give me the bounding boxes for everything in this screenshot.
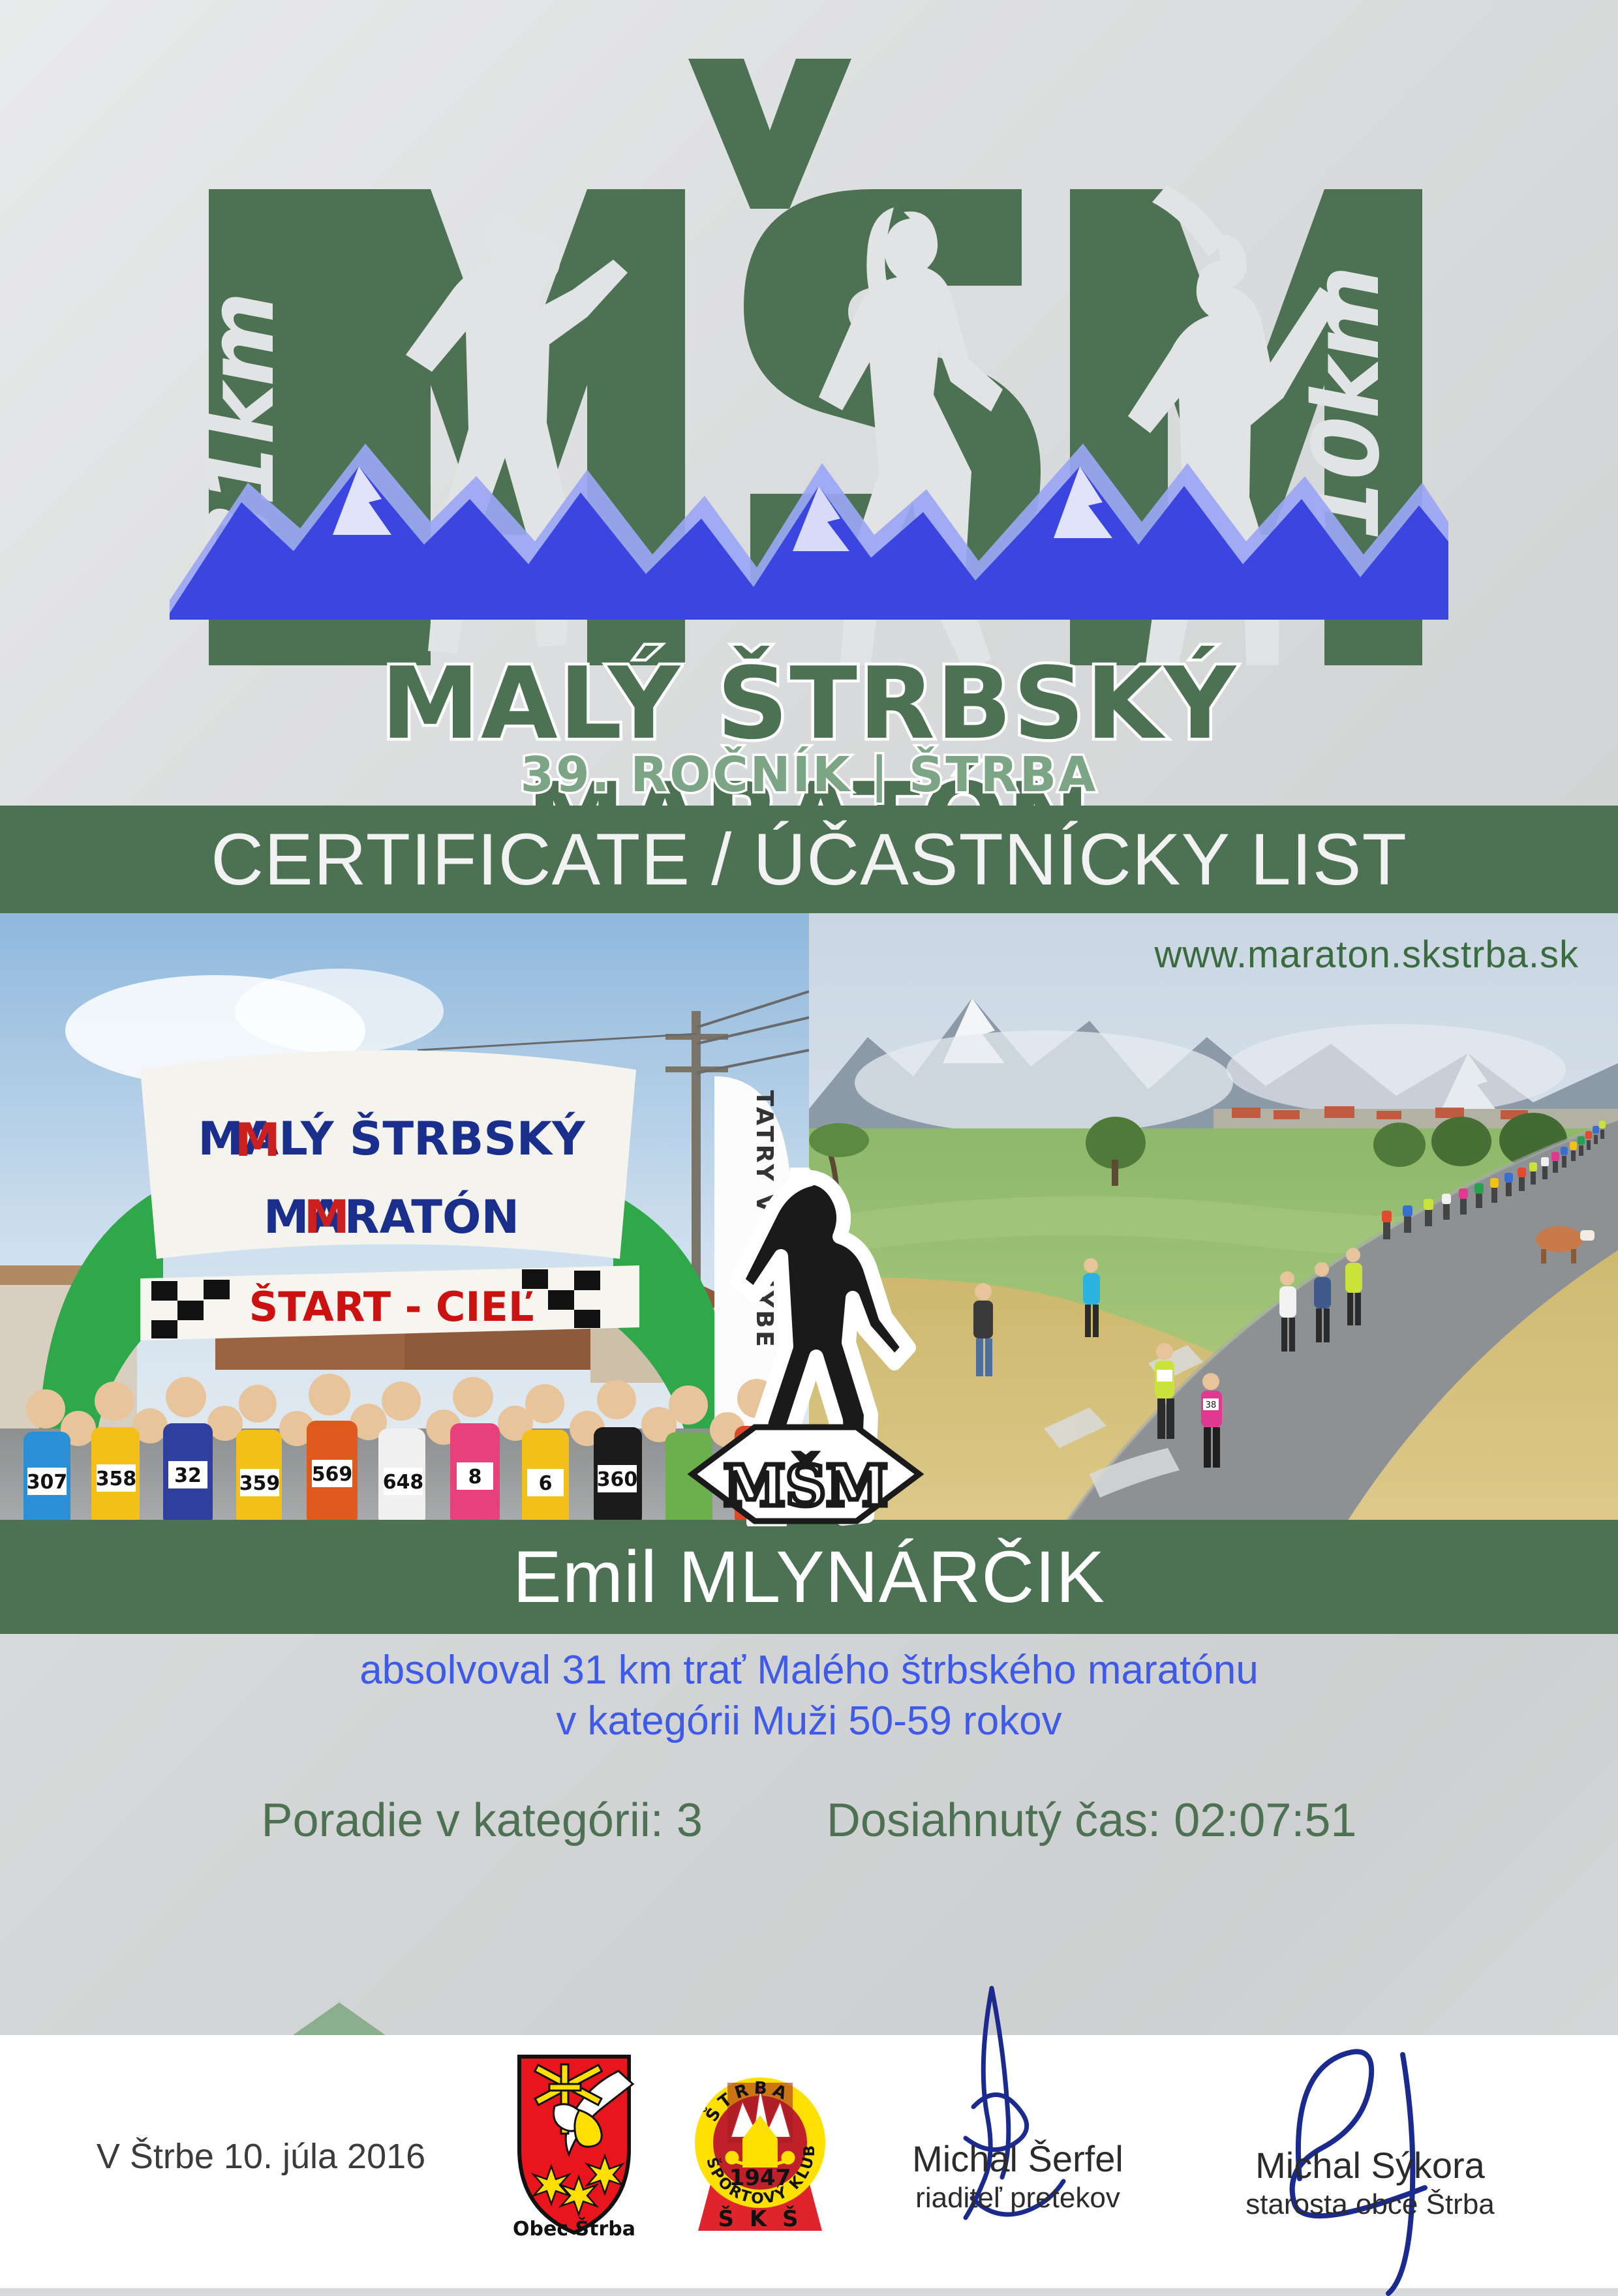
achievement-line-2: v kategórii Muži 50-59 rokov	[0, 1696, 1618, 1747]
badge-bottom-text: Š K Š	[718, 2205, 802, 2232]
msm-diamond-badge: MŠM	[692, 1427, 919, 1521]
svg-text:ŠTART - CIEĽ: ŠTART - CIEĽ	[249, 1283, 534, 1331]
svg-text:8: 8	[468, 1466, 482, 1488]
certificate-title: CERTIFICATE / ÚČASTNÍCKY LIST	[211, 817, 1407, 901]
finish-time: Dosiahnutý čas: 02:07:51	[827, 1794, 1357, 1847]
msm-logo: 31km 10km	[170, 39, 1448, 776]
svg-text:M: M	[235, 1113, 281, 1167]
signature-block-mayor: Michal Sýkora starosta obce Štrba	[1200, 2146, 1540, 2222]
photo-race-course: 38	[809, 913, 1618, 1526]
svg-text:32: 32	[174, 1464, 202, 1487]
recipient-name-bar: Emil MLYNÁRČIK	[0, 1520, 1618, 1634]
signatory-role: riaditeľ pretekov	[848, 2181, 1187, 2216]
results-row: Poradie v kategórii: 3 Dosiahnutý čas: 0…	[0, 1794, 1618, 1847]
svg-text:648: 648	[383, 1471, 424, 1494]
svg-text:569: 569	[312, 1463, 353, 1486]
signatory-name: Michal Sýkora	[1200, 2146, 1540, 2185]
logo-area: 31km 10km	[0, 0, 1618, 796]
svg-text:MŠM: MŠM	[724, 1453, 889, 1519]
achievement-description: absolvoval 31 km trať Malého štrbského m…	[0, 1645, 1618, 1747]
category-rank: Poradie v kategórii: 3	[262, 1794, 703, 1847]
msm-wordmark-graphic: 31km 10km	[170, 39, 1448, 665]
svg-text:6: 6	[539, 1472, 553, 1495]
photo-strip: MALÝ ŠTRBSKÝ MARATÓN M M ŠTART - CIEĽ TA…	[0, 913, 1618, 1526]
msm-runner-badge: MŠM	[682, 1168, 930, 1526]
caron-accent	[688, 59, 851, 209]
achievement-line-1: absolvoval 31 km trať Malého štrbského m…	[0, 1645, 1618, 1696]
event-subtitle: 39. ROČNÍK | ŠTRBA	[170, 747, 1448, 803]
certificate-page: 31km 10km	[0, 0, 1618, 2288]
svg-text:M: M	[304, 1190, 350, 1244]
website-url[interactable]: www.maraton.skstrba.sk	[1154, 933, 1579, 976]
certificate-title-bar: CERTIFICATE / ÚČASTNÍCKY LIST	[0, 806, 1618, 913]
crest-caption: Obec Štrba	[513, 2216, 635, 2241]
svg-text:359: 359	[239, 1472, 281, 1495]
obec-strba-coat-of-arms: Obec Štrba	[509, 2051, 639, 2241]
recipient-name: Emil MLYNÁRČIK	[513, 1535, 1105, 1619]
svg-text:38: 38	[1206, 1400, 1217, 1410]
sks-club-badge: 1947 ŠTRBA ŠPORTOVÝ KLUB Š K Š	[692, 2045, 829, 2241]
svg-text:MARATÓN: MARATÓN	[264, 1190, 519, 1244]
svg-text:358: 358	[96, 1468, 137, 1490]
signatory-name: Michal Šerfel	[848, 2139, 1187, 2179]
signature-block-director: Michal Šerfel riaditeľ pretekov	[848, 2139, 1187, 2216]
signatory-role: starosta obce Štrba	[1200, 2188, 1540, 2222]
svg-text:307: 307	[27, 1471, 68, 1494]
place-and-date: V Štrbe 10. júla 2016	[78, 2136, 444, 2177]
svg-text:360: 360	[597, 1468, 638, 1491]
